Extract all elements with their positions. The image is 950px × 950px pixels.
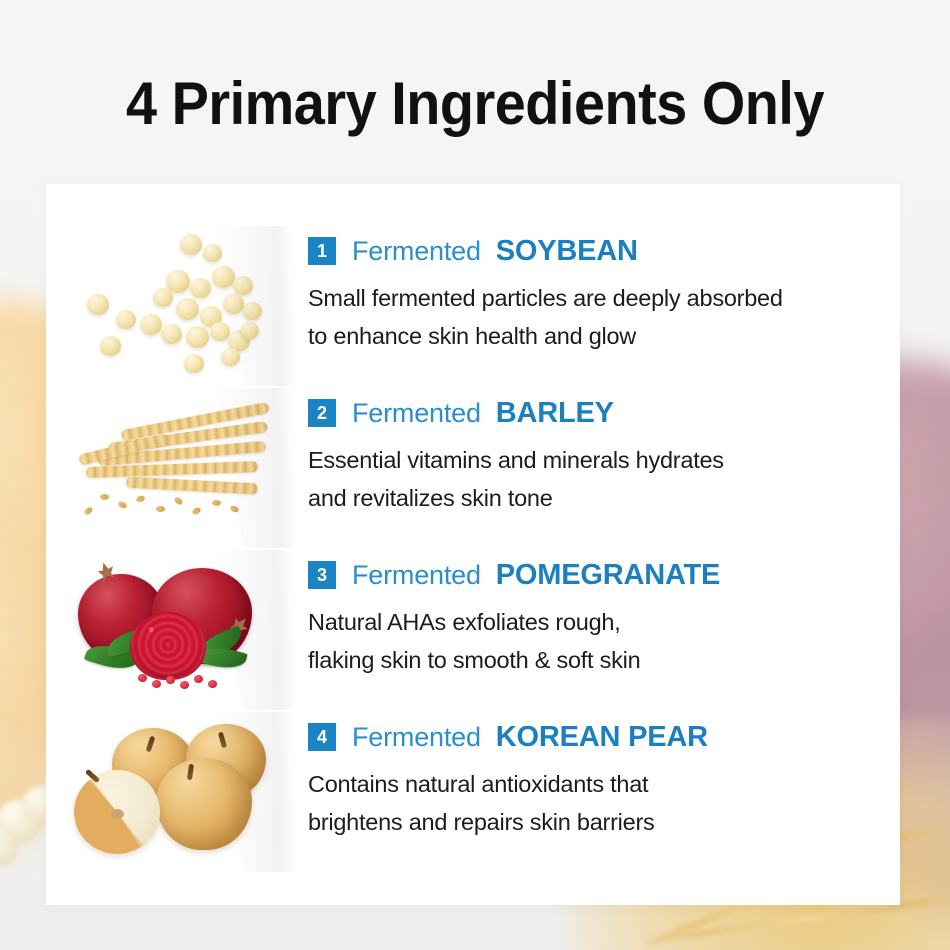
ingredient-description: Contains natural antioxidants that brigh… xyxy=(308,765,888,841)
ingredient-row-barley: 2 Fermented BARLEY Essential vitamins an… xyxy=(46,388,900,548)
korean-pear-heading: 4 Fermented KOREAN PEAR xyxy=(308,720,888,754)
description-line: and revitalizes skin tone xyxy=(308,479,888,517)
ingredient-description: Natural AHAs exfoliates rough, flaking s… xyxy=(308,603,888,679)
fermented-label: Fermented xyxy=(352,560,481,591)
pomegranate-photo xyxy=(60,550,310,710)
ingredient-number-badge: 1 xyxy=(308,237,336,265)
description-line: Essential vitamins and minerals hydrates xyxy=(308,441,888,479)
barley-photo xyxy=(60,388,310,548)
ingredient-row-soybean: 1 Fermented SOYBEAN Small fermented part… xyxy=(46,226,900,386)
description-line: Natural AHAs exfoliates rough, xyxy=(308,603,888,641)
ingredients-infographic: 4 Primary Ingredients Only xyxy=(0,0,950,950)
pomegranate-text-block: 3 Fermented POMEGRANATE Natural AHAs exf… xyxy=(308,558,888,679)
description-line: brightens and repairs skin barriers xyxy=(308,803,888,841)
ingredient-number-badge: 3 xyxy=(308,561,336,589)
fermented-label: Fermented xyxy=(352,236,481,267)
description-line: Contains natural antioxidants that xyxy=(308,765,888,803)
fermented-label: Fermented xyxy=(352,722,481,753)
ingredient-name: BARLEY xyxy=(494,397,616,430)
korean-pear-text-block: 4 Fermented KOREAN PEAR Contains natural… xyxy=(308,720,888,841)
page-title: 4 Primary Ingredients Only xyxy=(33,74,917,134)
korean-pear-photo xyxy=(60,712,310,872)
ingredient-name: KOREAN PEAR xyxy=(494,721,710,754)
description-line: to enhance skin health and glow xyxy=(308,317,888,355)
soybeans-photo xyxy=(60,226,310,386)
ingredient-description: Essential vitamins and minerals hydrates… xyxy=(308,441,888,517)
barley-text-block: 2 Fermented BARLEY Essential vitamins an… xyxy=(308,396,888,517)
description-line: flaking skin to smooth & soft skin xyxy=(308,641,888,679)
ingredient-number-badge: 2 xyxy=(308,399,336,427)
ingredient-number-badge: 4 xyxy=(308,723,336,751)
barley-heading: 2 Fermented BARLEY xyxy=(308,396,888,430)
fermented-label: Fermented xyxy=(352,398,481,429)
pomegranate-heading: 3 Fermented POMEGRANATE xyxy=(308,558,888,592)
ingredient-description: Small fermented particles are deeply abs… xyxy=(308,279,888,355)
ingredients-card: 1 Fermented SOYBEAN Small fermented part… xyxy=(46,184,900,905)
ingredient-row-korean-pear: 4 Fermented KOREAN PEAR Contains natural… xyxy=(46,712,900,872)
soybean-heading: 1 Fermented SOYBEAN xyxy=(308,234,888,268)
soybean-text-block: 1 Fermented SOYBEAN Small fermented part… xyxy=(308,234,888,355)
description-line: Small fermented particles are deeply abs… xyxy=(308,279,888,317)
ingredient-name: SOYBEAN xyxy=(494,235,640,268)
ingredient-row-pomegranate: 3 Fermented POMEGRANATE Natural AHAs exf… xyxy=(46,550,900,710)
ingredient-name: POMEGRANATE xyxy=(494,559,722,592)
